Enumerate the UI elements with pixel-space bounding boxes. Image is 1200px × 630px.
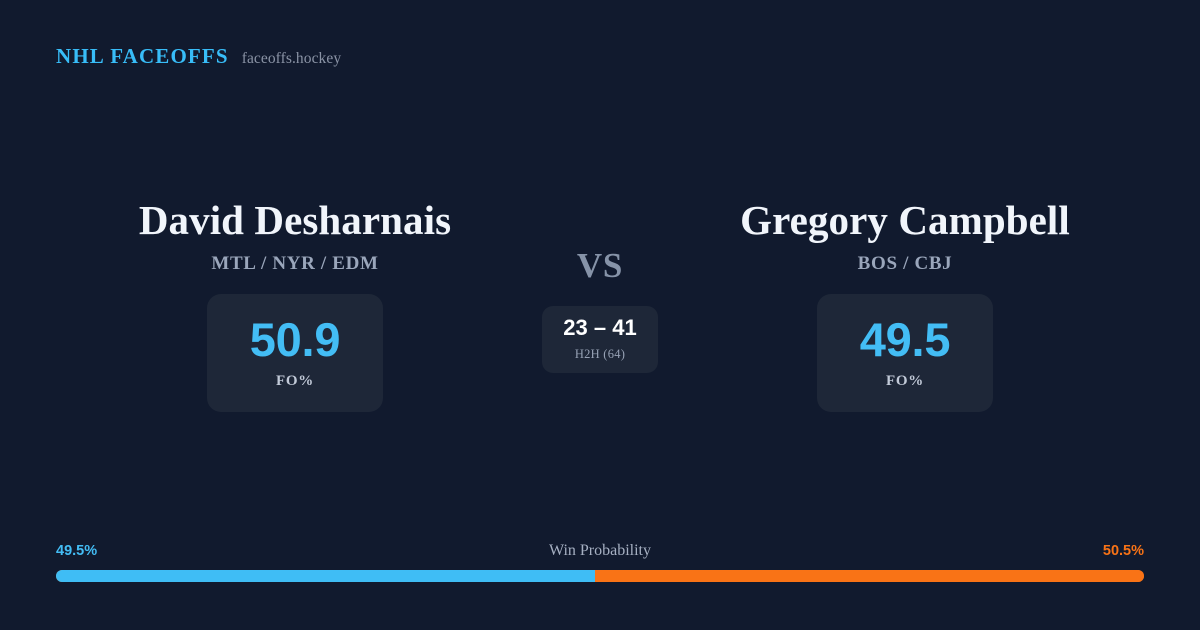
head-to-head-caption: H2H (64) xyxy=(575,347,625,362)
brand-header: NHL FACEOFFS faceoffs.hockey xyxy=(56,46,341,67)
brand-wordmark: NHL FACEOFFS xyxy=(56,46,229,67)
win-probability-labels: 49.5% Win Probability 50.5% xyxy=(56,541,1144,561)
faceoff-pct-label-right: FO% xyxy=(886,373,924,390)
head-to-head-record: 23 – 41 xyxy=(563,317,636,339)
win-probability-bar-right-segment xyxy=(595,570,1144,582)
player-teams-right: BOS / CBJ xyxy=(858,253,953,275)
player-teams-left: MTL / NYR / EDM xyxy=(211,253,378,275)
player-card-right: Gregory Campbell BOS / CBJ 49.5 FO% xyxy=(660,196,1150,412)
stat-card-right: 49.5 FO% xyxy=(817,294,993,412)
stat-card-left: 50.9 FO% xyxy=(207,294,383,412)
player-name-left: David Desharnais xyxy=(139,196,451,244)
versus-column: VS 23 – 41 H2H (64) xyxy=(540,196,660,373)
win-probability-bar-left-segment xyxy=(56,570,595,582)
win-probability-right-percent: 50.5% xyxy=(1103,541,1144,561)
brand-domain: faceoffs.hockey xyxy=(242,51,341,67)
matchup-section: David Desharnais MTL / NYR / EDM 50.9 FO… xyxy=(0,196,1200,412)
faceoff-pct-value-right: 49.5 xyxy=(860,316,951,363)
player-card-left: David Desharnais MTL / NYR / EDM 50.9 FO… xyxy=(50,196,540,412)
win-probability-title: Win Probability xyxy=(56,541,1144,561)
head-to-head-box: 23 – 41 H2H (64) xyxy=(542,306,658,373)
faceoff-pct-label-left: FO% xyxy=(276,373,314,390)
versus-label: VS xyxy=(577,248,623,283)
win-probability-bar xyxy=(56,570,1144,582)
win-probability-section: 49.5% Win Probability 50.5% xyxy=(56,541,1144,582)
player-name-right: Gregory Campbell xyxy=(740,196,1070,244)
faceoff-pct-value-left: 50.9 xyxy=(250,316,341,363)
